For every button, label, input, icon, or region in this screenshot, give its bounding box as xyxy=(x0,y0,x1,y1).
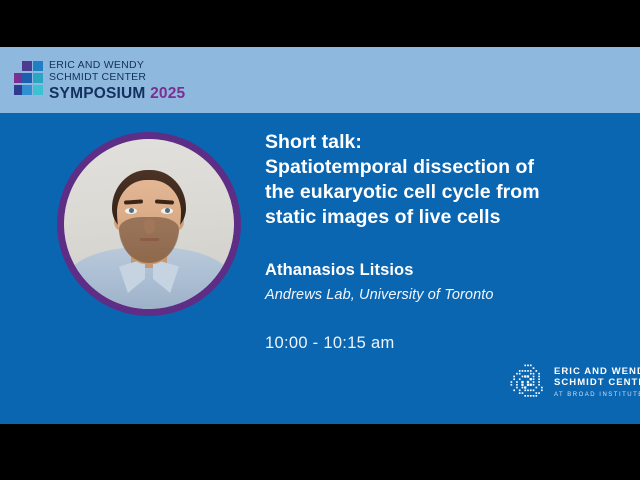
schmidt-logo-line1: ERIC AND WENDY xyxy=(554,366,640,378)
slide-content: Short talk: Spatiotemporal dissection of… xyxy=(265,130,625,354)
symposium-logo-line3: SYMPOSIUM 2025 xyxy=(49,85,185,102)
portrait-nose xyxy=(144,219,155,234)
letterbox-bar-bottom xyxy=(0,424,640,480)
squares-grid-icon xyxy=(14,61,42,99)
talk-title: Short talk: Spatiotemporal dissection of… xyxy=(265,130,625,230)
speaker-block: Athanasios Litsios Andrews Lab, Universi… xyxy=(265,260,625,305)
talk-title-line-1: Short talk: xyxy=(265,130,625,155)
logo-square xyxy=(22,61,32,71)
talk-time: 10:00 - 10:15 am xyxy=(265,333,625,354)
logo-square xyxy=(33,85,43,95)
symposium-logo-line2: SCHMIDT CENTER xyxy=(49,72,185,84)
logo-square xyxy=(22,73,32,83)
pixel-swirl-icon xyxy=(510,364,546,400)
portrait-eye-left xyxy=(125,208,137,214)
schmidt-center-wordmark: ERIC AND WENDY SCHMIDT CENTER AT BROAD I… xyxy=(554,366,640,399)
symposium-word: SYMPOSIUM xyxy=(49,85,146,102)
talk-title-line-4: static images of live cells xyxy=(265,205,625,230)
logo-square xyxy=(33,73,43,83)
speaker-name: Athanasios Litsios xyxy=(265,260,625,281)
speaker-portrait xyxy=(57,132,241,316)
logo-square xyxy=(22,85,32,95)
letterbox-bar-top xyxy=(0,0,640,47)
portrait-eye-right xyxy=(161,208,173,214)
symposium-year: 2025 xyxy=(150,85,185,102)
symposium-logo-line1: ERIC AND WENDY xyxy=(49,60,185,72)
portrait-mouth xyxy=(140,238,159,241)
symposium-logo-wordmark: ERIC AND WENDY SCHMIDT CENTER SYMPOSIUM … xyxy=(49,60,185,102)
logo-square xyxy=(33,61,43,71)
eric-and-wendy-schmidt-center-logo: ERIC AND WENDY SCHMIDT CENTER AT BROAD I… xyxy=(510,364,640,400)
talk-title-line-2: Spatiotemporal dissection of xyxy=(265,155,625,180)
speaker-portrait-image xyxy=(64,139,234,309)
symposium-logo: ERIC AND WENDY SCHMIDT CENTER SYMPOSIUM … xyxy=(14,61,185,103)
speaker-affiliation: Andrews Lab, University of Toronto xyxy=(265,286,625,305)
header-band: ERIC AND WENDY SCHMIDT CENTER SYMPOSIUM … xyxy=(0,47,640,113)
schmidt-logo-line3: AT BROAD INSTITUTE xyxy=(554,391,640,399)
talk-title-line-3: the eukaryotic cell cycle from xyxy=(265,180,625,205)
schmidt-logo-line2: SCHMIDT CENTER xyxy=(554,377,640,389)
slide-frame: ERIC AND WENDY SCHMIDT CENTER SYMPOSIUM … xyxy=(0,0,640,480)
